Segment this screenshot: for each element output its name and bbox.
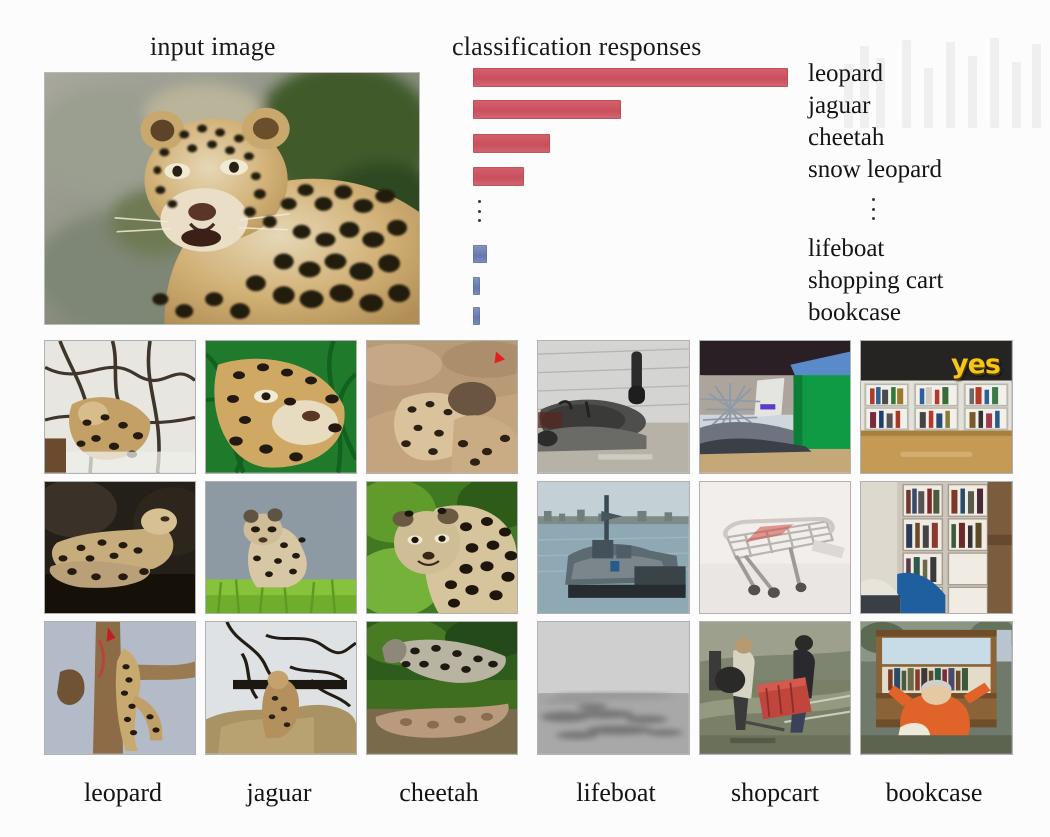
bar-leopard [473, 68, 788, 87]
class-label-lifeboat: lifeboat [808, 236, 884, 261]
bar-jaguar [473, 100, 621, 119]
bar-shopping-cart [473, 277, 480, 295]
column-label-jaguar: jaguar [200, 778, 358, 808]
grid-cell[interactable] [366, 621, 518, 755]
grid-cell[interactable] [537, 340, 690, 474]
grid-cell[interactable] [699, 340, 852, 474]
classification-responses-title: classification responses [452, 32, 702, 62]
nearest-neighbors-grid-animals [44, 340, 518, 755]
grid-cell[interactable] [537, 481, 690, 615]
yes-overlay-text: yes [951, 349, 1000, 380]
bar-bookcase [473, 307, 480, 325]
column-label-lifeboat: lifeboat [537, 778, 695, 808]
grid-cell[interactable] [205, 481, 357, 615]
class-label-snow-leopard: snow leopard [808, 157, 942, 182]
grid-cell[interactable]: yes [860, 340, 1013, 474]
grid-cell[interactable] [366, 481, 518, 615]
class-label-jaguar: jaguar [808, 93, 870, 118]
grid-cell[interactable] [44, 340, 196, 474]
column-label-bookcase: bookcase [855, 778, 1013, 808]
grid-cell[interactable] [860, 621, 1013, 755]
grid-cell[interactable] [44, 481, 196, 615]
classification-bar-chart [473, 66, 803, 316]
grid-cell[interactable] [205, 340, 357, 474]
class-label-bookcase: bookcase [808, 300, 901, 325]
leopard-illustration [45, 73, 419, 324]
class-label-leopard: leopard [808, 61, 883, 86]
figure-root: input image classification responses [0, 0, 1050, 837]
grid-cell[interactable] [44, 621, 196, 755]
bar-snow-leopard [473, 167, 524, 186]
input-image-title: input image [150, 32, 276, 62]
class-label-shopping-cart: shopping cart [808, 268, 943, 293]
input-image-photo [44, 72, 420, 325]
grid-cell[interactable] [699, 621, 852, 755]
class-label-ellipsis [872, 198, 876, 220]
bar-cheetah [473, 134, 550, 153]
column-label-shopcart: shopcart [696, 778, 854, 808]
bar-lifeboat [473, 245, 487, 263]
grid-cell[interactable] [537, 621, 690, 755]
grid-cell[interactable] [860, 481, 1013, 615]
class-label-cheetah: cheetah [808, 125, 884, 150]
grid-cell[interactable] [699, 481, 852, 615]
column-label-leopard: leopard [44, 778, 202, 808]
nearest-neighbors-grid-objects: yes [537, 340, 1013, 755]
chart-ellipsis [478, 200, 482, 222]
column-label-cheetah: cheetah [360, 778, 518, 808]
grid-cell[interactable] [205, 621, 357, 755]
grid-cell[interactable] [366, 340, 518, 474]
